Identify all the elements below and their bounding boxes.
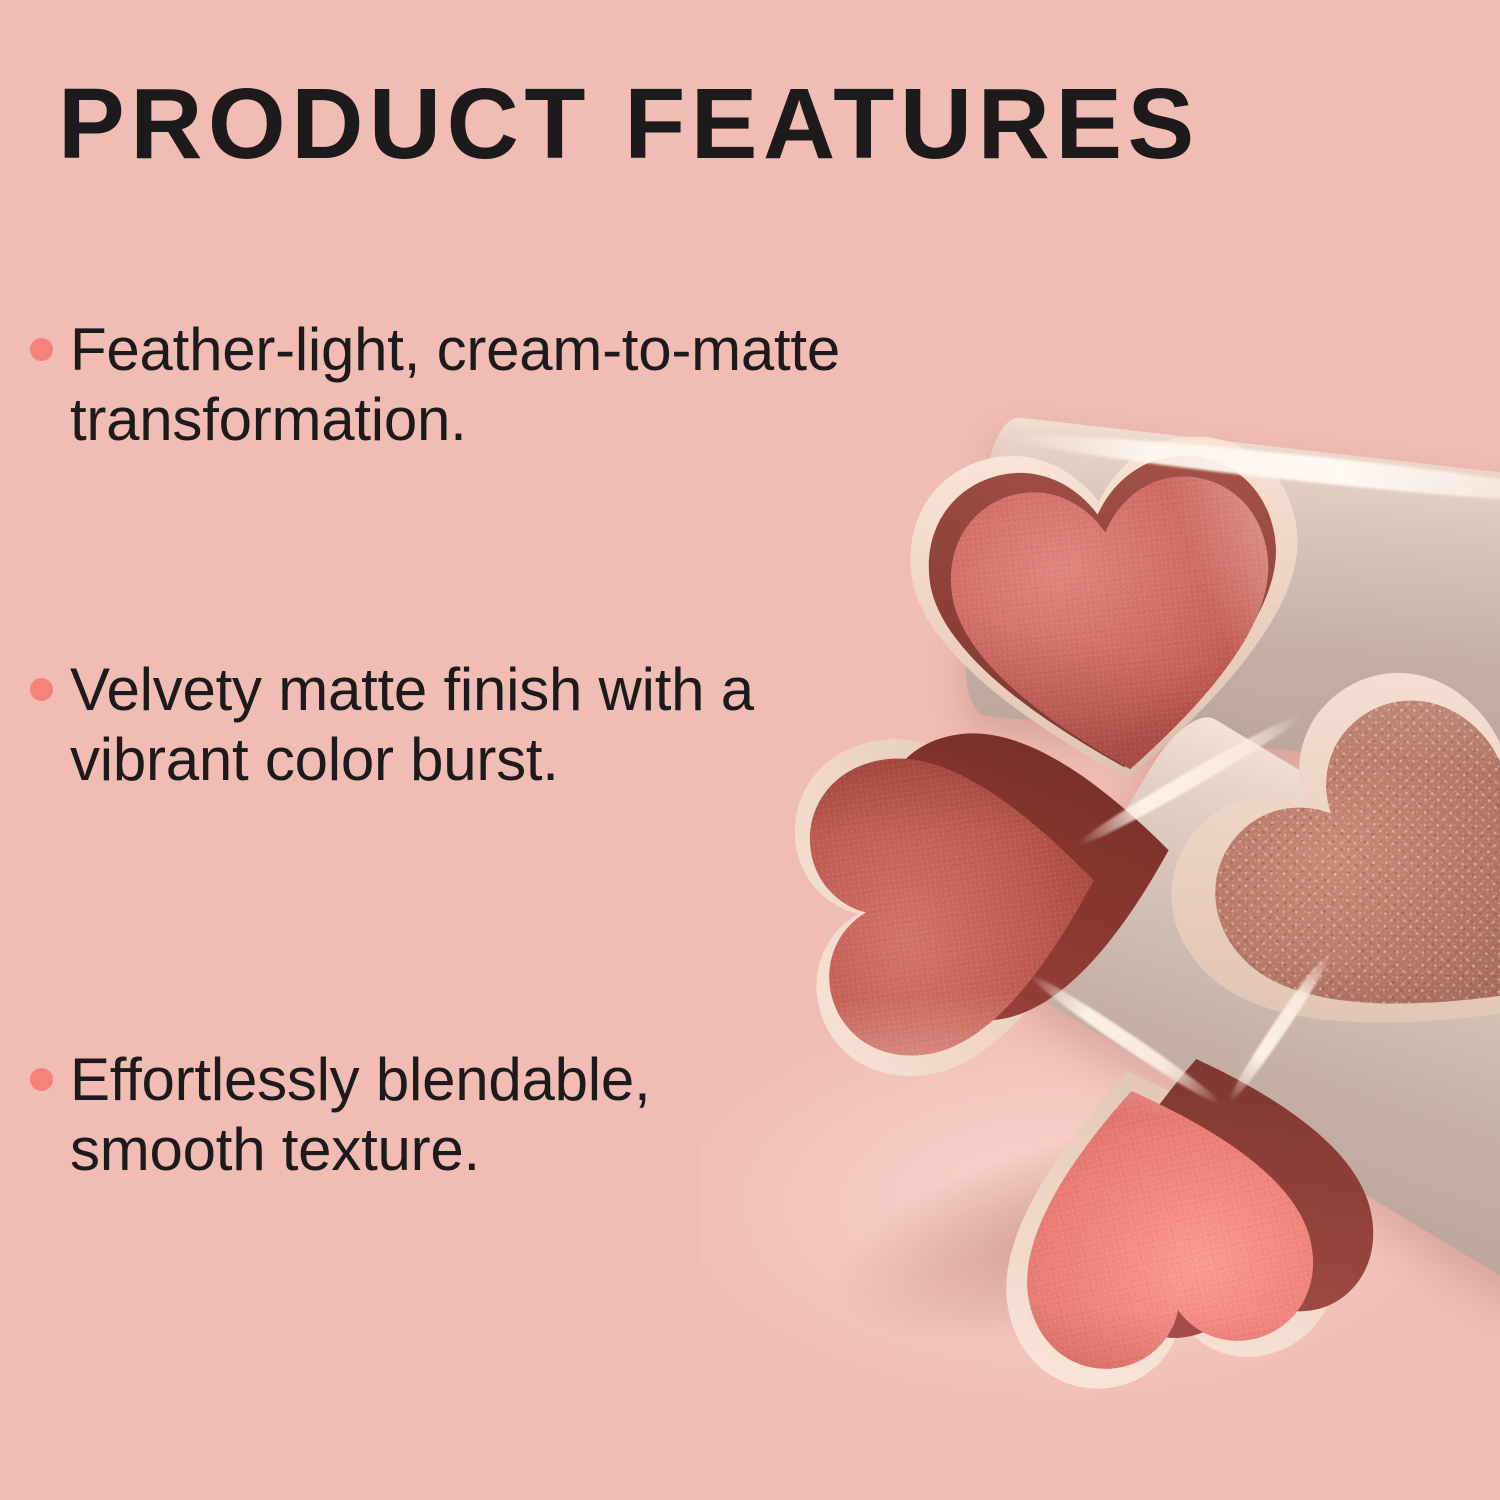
bullet-dot-icon (30, 1068, 53, 1091)
bullet-dot-icon (30, 338, 53, 361)
lipstick-heart-coral-pink (983, 1052, 1337, 1398)
page-title: PRODUCT FEATURES (58, 74, 1200, 174)
product-photo (760, 420, 1500, 1500)
list-item: Effortlessly blendable, smooth texture. (30, 1045, 810, 1184)
feature-text: Effortlessly blendable, smooth texture. (70, 1045, 810, 1184)
product-features-banner: PRODUCT FEATURES Feather-light, cream-to… (0, 0, 1500, 1500)
lipstick-heart-brick-coral (785, 726, 1125, 1075)
bullet-dot-icon (30, 678, 53, 701)
